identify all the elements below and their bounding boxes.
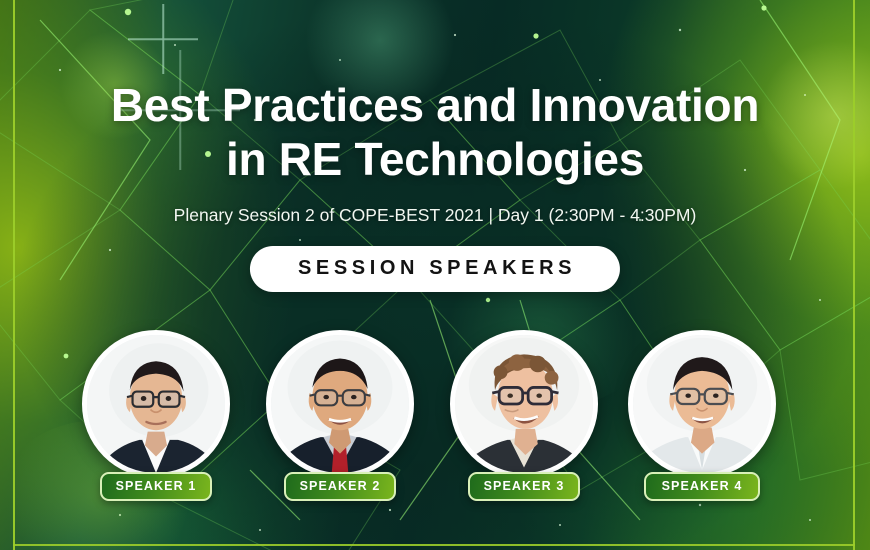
session-speakers-label: SESSION SPEAKERS xyxy=(250,246,620,292)
speaker-2-badge[interactable]: SPEAKER 2 xyxy=(284,472,396,501)
speaker-card-4[interactable]: SPEAKER 4 xyxy=(622,330,782,501)
speaker-4-photo xyxy=(628,330,776,478)
speaker-card-3[interactable]: SPEAKER 3 xyxy=(444,330,604,501)
speaker-3-photo xyxy=(450,330,598,478)
page-title: Best Practices and Innovation in RE Tech… xyxy=(0,78,870,187)
speaker-2-photo xyxy=(266,330,414,478)
event-banner: Best Practices and Innovation in RE Tech… xyxy=(0,0,870,550)
speaker-1-badge[interactable]: SPEAKER 1 xyxy=(100,472,212,501)
banner-content: Best Practices and Innovation in RE Tech… xyxy=(0,0,870,550)
session-subtitle: Plenary Session 2 of COPE-BEST 2021 | Da… xyxy=(0,205,870,226)
speaker-3-badge[interactable]: SPEAKER 3 xyxy=(468,472,580,501)
speaker-1-photo xyxy=(82,330,230,478)
speaker-4-badge[interactable]: SPEAKER 4 xyxy=(644,472,760,501)
speakers-row: SPEAKER 1 xyxy=(0,330,870,510)
title-line-2: in RE Technologies xyxy=(0,132,870,186)
title-line-1: Best Practices and Innovation xyxy=(0,78,870,132)
speaker-card-2[interactable]: SPEAKER 2 xyxy=(260,330,420,501)
speaker-card-1[interactable]: SPEAKER 1 xyxy=(76,330,236,501)
